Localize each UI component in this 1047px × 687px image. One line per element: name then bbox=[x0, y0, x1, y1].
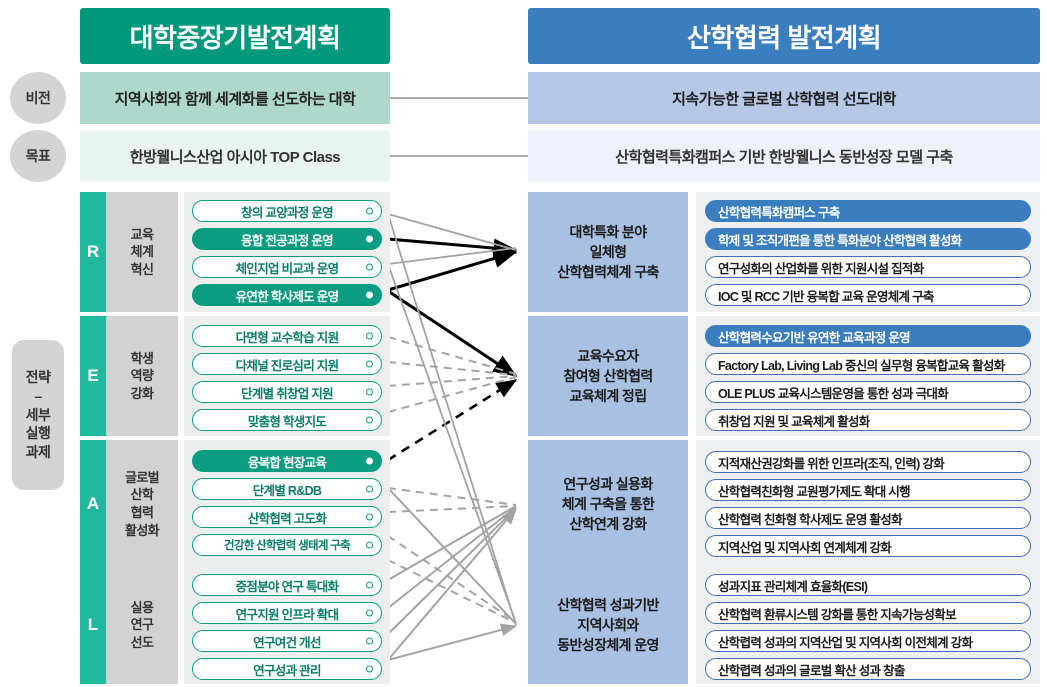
right-pill-4-3[interactable]: 산학렵력 성과의 글로벌 확산 성과 창출 bbox=[705, 658, 1031, 680]
right-panel-4: 성과지표 관리체계 효율화(ESI) 산학협력 환류시스템 강화를 통한 지속가… bbox=[696, 566, 1040, 684]
middle-box-3-line-1: 체계 구축을 통한 bbox=[562, 494, 655, 514]
right-panel-3: 지적재산권강화를 위한 인프라(조직, 인력) 강화 산학협력친화형 교원평가제… bbox=[696, 440, 1040, 568]
strategy-letter-r: R bbox=[80, 192, 106, 312]
strategy-name-r-line-0: 교육 bbox=[131, 226, 154, 244]
task-pill-e-2[interactable]: 단계별 취창업 지원 bbox=[192, 381, 382, 403]
right-pill-3-2[interactable]: 산학협력 친화형 학사제도 운영 활성화 bbox=[705, 507, 1031, 529]
connector-knob-icon bbox=[366, 264, 373, 271]
connector-knob-icon bbox=[366, 389, 373, 396]
task-label: 중점분야 연구 특대화 bbox=[236, 576, 339, 595]
connector-knob-icon bbox=[366, 417, 373, 424]
task-pill-r-3[interactable]: 유연한 학사제도 운영 bbox=[192, 284, 382, 306]
middle-box-3-line-0: 연구성과 실용화 bbox=[562, 474, 655, 494]
task-label: 맞춤형 학생지도 bbox=[248, 411, 326, 430]
strategy-name-a-line-0: 글로벌 bbox=[125, 469, 159, 487]
strategy-name-l-line-1: 연구 bbox=[131, 616, 154, 634]
links-to-box3 bbox=[388, 488, 516, 660]
task-pill-e-0[interactable]: 다면형 교수학습 지원 bbox=[192, 325, 382, 347]
links-to-box2 bbox=[388, 291, 516, 460]
task-label: 유연한 학사제도 운영 bbox=[236, 286, 339, 305]
strategy-name-e-line-1: 역량 bbox=[131, 367, 154, 385]
task-panel-a: 융복합 현장교육 단계별 R&DB 산학협력 고도화 건강한 산학렵력 생태계 … bbox=[184, 440, 390, 568]
right-pill-2-3[interactable]: 취창업 지원 및 교육체계 활성화 bbox=[705, 409, 1031, 431]
strategy-name-a: 글로벌 산학 협력 활성화 bbox=[106, 440, 178, 568]
header-left: 대학중장기발전계획 bbox=[80, 8, 390, 64]
middle-box-1-line-0: 대학특화 분야 bbox=[557, 222, 659, 242]
middle-box-4-line-1: 지역사회와 bbox=[557, 615, 659, 635]
connector-knob-icon bbox=[366, 666, 373, 673]
strategy-name-r-line-1: 체계 bbox=[131, 243, 154, 261]
strategy-name-a-line-3: 활성화 bbox=[125, 522, 159, 540]
task-label: 다면형 교수학습 지원 bbox=[236, 327, 339, 346]
links-to-box4 bbox=[388, 214, 516, 660]
strategy-name-e-line-0: 학생 bbox=[131, 350, 154, 368]
strategy-label-line-0: 전략 bbox=[26, 368, 51, 387]
middle-box-2-line-1: 참여형 산학협력 bbox=[563, 366, 652, 386]
connector-knob-icon bbox=[366, 610, 373, 617]
connector-knob-icon bbox=[366, 638, 373, 645]
right-pill-2-0[interactable]: 산학협력수요기반 유연한 교육과정 운영 bbox=[705, 325, 1031, 347]
task-panel-l: 중점분야 연구 특대화 연구지원 인프라 확대 연구여건 개선 연구성과 관리 bbox=[184, 566, 390, 684]
task-panel-r: 창의 교양과정 운영 융합 전공과정 운영 체인지업 비교과 운영 유연한 학사… bbox=[184, 192, 390, 312]
right-pill-1-1[interactable]: 학제 및 조직개편을 통한 특화분야 산학협력 활성화 bbox=[705, 228, 1031, 250]
task-pill-a-1[interactable]: 단계별 R&DB bbox=[192, 478, 382, 500]
task-label: 연구여건 개선 bbox=[253, 632, 321, 651]
strategy-name-l: 실용 연구 선도 bbox=[106, 566, 178, 684]
task-pill-a-2[interactable]: 산학협력 고도화 bbox=[192, 506, 382, 528]
strategy-name-e: 학생 역량 강화 bbox=[106, 316, 178, 436]
right-pill-1-0[interactable]: 산학협력특화캠퍼스 구축 bbox=[705, 200, 1031, 222]
right-pill-3-3[interactable]: 지역산업 및 지역사회 연계체계 강화 bbox=[705, 535, 1031, 557]
right-pill-3-1[interactable]: 산학협력친화형 교원평가제도 확대 시행 bbox=[705, 479, 1031, 501]
right-pill-1-2[interactable]: 연구성화의 산업화를 위한 지원시설 집적화 bbox=[705, 256, 1031, 278]
strategy-name-r-line-2: 혁신 bbox=[131, 261, 154, 279]
connector-knob-icon bbox=[366, 236, 373, 243]
connector-knob-icon bbox=[366, 333, 373, 340]
right-pill-2-1[interactable]: Factory Lab, Living Lab 중신의 실무형 융복합교육 활성… bbox=[705, 353, 1031, 375]
task-label: 연구지원 인프라 확대 bbox=[236, 604, 339, 623]
right-pill-2-2[interactable]: OLE PLUS 교육시스템운영을 통한 성과 극대화 bbox=[705, 381, 1031, 403]
strategy-label-line-2: 세부 bbox=[26, 406, 51, 425]
middle-box-4-line-0: 산학협력 성과기반 bbox=[557, 595, 659, 615]
strategy-label-line-1: – bbox=[34, 387, 41, 406]
right-pill-4-1[interactable]: 산학협력 환류시스템 강화를 통한 지속가능성확보 bbox=[705, 602, 1031, 624]
task-label: 다채널 진로심리 지원 bbox=[236, 355, 339, 374]
middle-box-2-line-2: 교육체계 정립 bbox=[563, 386, 652, 406]
middle-box-4: 산학협력 성과기반 지역사회와 동반성장체계 운영 bbox=[528, 566, 688, 684]
strategy-letter-a: A bbox=[80, 440, 106, 568]
task-label: 창의 교양과정 운영 bbox=[241, 202, 333, 221]
task-label: 단계별 취창업 지원 bbox=[241, 383, 333, 402]
row-label-vision: 비전 bbox=[10, 72, 66, 124]
strategy-label-line-4: 과제 bbox=[26, 443, 51, 462]
task-pill-l-1[interactable]: 연구지원 인프라 확대 bbox=[192, 602, 382, 624]
goal-left: 한방웰니스산업 아시아 TOP Class bbox=[80, 130, 390, 182]
connector-knob-icon bbox=[366, 361, 373, 368]
right-pill-3-0[interactable]: 지적재산권강화를 위한 인프라(조직, 인력) 강화 bbox=[705, 451, 1031, 473]
task-pill-r-2[interactable]: 체인지업 비교과 운영 bbox=[192, 256, 382, 278]
strategy-name-a-line-2: 협력 bbox=[125, 504, 159, 522]
task-label: 융합 전공과정 운영 bbox=[241, 230, 333, 249]
task-pill-e-1[interactable]: 다채널 진로심리 지원 bbox=[192, 353, 382, 375]
task-pill-r-0[interactable]: 창의 교양과정 운영 bbox=[192, 200, 382, 222]
task-pill-l-3[interactable]: 연구성과 관리 bbox=[192, 658, 382, 680]
middle-box-3-line-2: 산학연계 강화 bbox=[562, 514, 655, 534]
connector-knob-icon bbox=[366, 208, 373, 215]
task-pill-r-1[interactable]: 융합 전공과정 운영 bbox=[192, 228, 382, 250]
task-label: 산학협력 고도화 bbox=[248, 508, 326, 527]
header-right: 산학협력 발전계획 bbox=[528, 8, 1040, 64]
middle-box-1-line-1: 일체형 bbox=[557, 242, 659, 262]
task-label: 체인지업 비교과 운영 bbox=[236, 258, 339, 277]
middle-box-4-line-2: 동반성장체계 운영 bbox=[557, 635, 659, 655]
task-pill-e-3[interactable]: 맞춤형 학생지도 bbox=[192, 409, 382, 431]
task-pill-l-0[interactable]: 중점분야 연구 특대화 bbox=[192, 574, 382, 596]
vision-right: 지속가능한 글로벌 산학협력 선도대학 bbox=[528, 72, 1040, 124]
goal-right: 산학협력특화캠퍼스 기반 한방웰니스 동반성장 모델 구축 bbox=[528, 130, 1040, 182]
right-pill-4-0[interactable]: 성과지표 관리체계 효율화(ESI) bbox=[705, 574, 1031, 596]
task-pill-a-3[interactable]: 건강한 산학렵력 생태계 구축 bbox=[192, 534, 382, 556]
strategy-letter-e: E bbox=[80, 316, 106, 436]
row-label-goal: 목표 bbox=[10, 130, 66, 182]
strategy-label-line-3: 실행 bbox=[26, 424, 51, 443]
task-label: 융복합 현장교육 bbox=[248, 452, 326, 471]
task-pill-a-0[interactable]: 융복합 현장교육 bbox=[192, 450, 382, 472]
diagram-root: 대학중장기발전계획 산학협력 발전계획 비전 지역사회와 함께 세계화를 선도하… bbox=[0, 0, 1047, 687]
connector-knob-icon bbox=[366, 582, 373, 589]
right-panel-2: 산학협력수요기반 유연한 교육과정 운영 Factory Lab, Living… bbox=[696, 316, 1040, 436]
task-label: 건강한 산학렵력 생태계 구축 bbox=[224, 537, 350, 553]
middle-box-3: 연구성과 실용화 체계 구축을 통한 산학연계 강화 bbox=[528, 440, 688, 568]
strategy-name-r: 교육 체계 혁신 bbox=[106, 192, 178, 312]
task-pill-l-2[interactable]: 연구여건 개선 bbox=[192, 630, 382, 652]
right-panel-1: 산학협력특화캠퍼스 구축 학제 및 조직개편을 통한 특화분야 산학협력 활성화… bbox=[696, 192, 1040, 312]
middle-box-1: 대학특화 분야 일체형 산학협력체계 구축 bbox=[528, 192, 688, 312]
task-label: 연구성과 관리 bbox=[253, 660, 321, 679]
strategy-name-e-line-2: 강화 bbox=[131, 385, 154, 403]
connector-knob-icon bbox=[366, 514, 373, 521]
strategy-name-l-line-0: 실용 bbox=[131, 599, 154, 617]
links-to-box1 bbox=[388, 214, 516, 290]
middle-box-2: 교육수요자 참여형 산학협력 교육체계 정립 bbox=[528, 316, 688, 436]
middle-box-1-line-2: 산학협력체계 구축 bbox=[557, 262, 659, 282]
row-label-strategy: 전략 – 세부 실행 과제 bbox=[12, 340, 64, 490]
middle-box-2-line-0: 교육수요자 bbox=[563, 346, 652, 366]
right-pill-1-3[interactable]: IOC 및 RCC 기반 융복합 교육 운영체계 구축 bbox=[705, 284, 1031, 306]
connector-knob-icon bbox=[366, 292, 373, 299]
task-panel-e: 다면형 교수학습 지원 다채널 진로심리 지원 단계별 취창업 지원 맞춤형 학… bbox=[184, 316, 390, 436]
strategy-letter-l: L bbox=[80, 566, 106, 684]
task-label: 단계별 R&DB bbox=[253, 480, 321, 499]
strategy-name-a-line-1: 산학 bbox=[125, 486, 159, 504]
strategy-name-l-line-2: 선도 bbox=[131, 634, 154, 652]
connector-knob-icon bbox=[366, 458, 373, 465]
right-pill-4-2[interactable]: 산학렵력 성과의 지역산업 및 지역사회 이전체계 강화 bbox=[705, 630, 1031, 652]
vision-left: 지역사회와 함께 세계화를 선도하는 대학 bbox=[80, 72, 390, 124]
connector-knob-icon bbox=[366, 486, 373, 493]
connector-knob-icon bbox=[366, 542, 373, 549]
